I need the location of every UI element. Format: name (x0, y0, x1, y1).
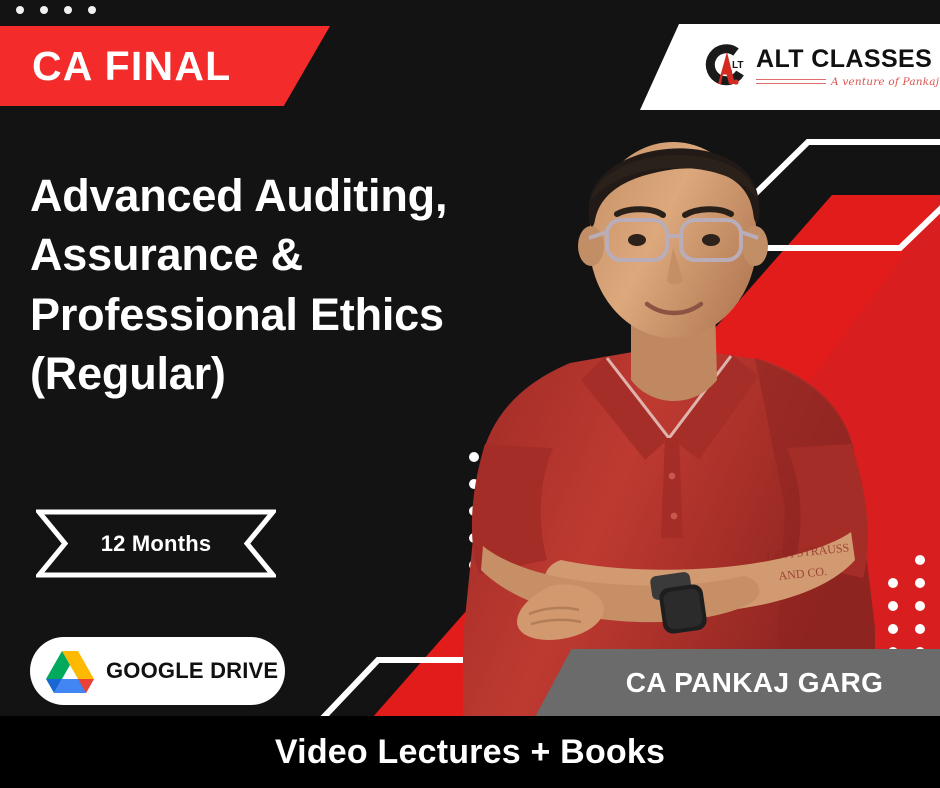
decorative-dot (40, 6, 48, 14)
faculty-name: CA PANKAJ GARG (592, 667, 884, 699)
tagline-rule (756, 79, 826, 84)
course-title-line-3: Professional Ethics (30, 285, 570, 344)
google-drive-icon (46, 649, 94, 693)
course-poster: LEVI STRAUSS AND CO. CA FINAL LT ALT CLA… (0, 0, 940, 788)
course-title-line-1: Advanced Auditing, (30, 166, 570, 225)
brand-tagline-row: A venture of Pankaj Garg (756, 76, 940, 88)
faculty-name-bar: CA PANKAJ GARG (535, 649, 940, 717)
brand-logo-banner[interactable]: LT ALT CLASSES A venture of Pankaj Garg (640, 24, 940, 110)
duration-badge: 12 Months (36, 509, 276, 578)
eye-right (702, 234, 720, 246)
brand-name: ALT CLASSES (756, 47, 940, 72)
footer-strip: Video Lectures + Books (0, 716, 940, 788)
shirt-button (671, 513, 678, 520)
course-title-line-4: (Regular) (30, 344, 570, 403)
brand-tagline: A venture of Pankaj Garg (831, 76, 940, 88)
alt-monogram-icon: LT (702, 43, 750, 91)
decorative-dots (16, 6, 96, 14)
category-ribbon: CA FINAL (0, 26, 330, 106)
brand-text-block: ALT CLASSES A venture of Pankaj Garg (756, 47, 940, 88)
decorative-dot (88, 6, 96, 14)
google-drive-glyph (46, 649, 94, 693)
duration-label: 12 Months (101, 531, 212, 557)
category-label: CA FINAL (0, 46, 231, 87)
course-title-line-2: Assurance & (30, 225, 570, 284)
svg-text:LT: LT (732, 60, 743, 71)
footer-label: Video Lectures + Books (275, 733, 665, 772)
delivery-mode-badge[interactable]: GOOGLE DRIVE (30, 637, 285, 705)
ear-left (578, 226, 604, 266)
delivery-mode-label: GOOGLE DRIVE (106, 658, 278, 684)
shirt-button (669, 473, 676, 480)
course-title: Advanced Auditing, Assurance & Professio… (30, 166, 570, 404)
decorative-dot (64, 6, 72, 14)
alt-classes-logo-icon: LT (702, 43, 750, 91)
eye-left (628, 234, 646, 246)
decorative-dot (16, 6, 24, 14)
